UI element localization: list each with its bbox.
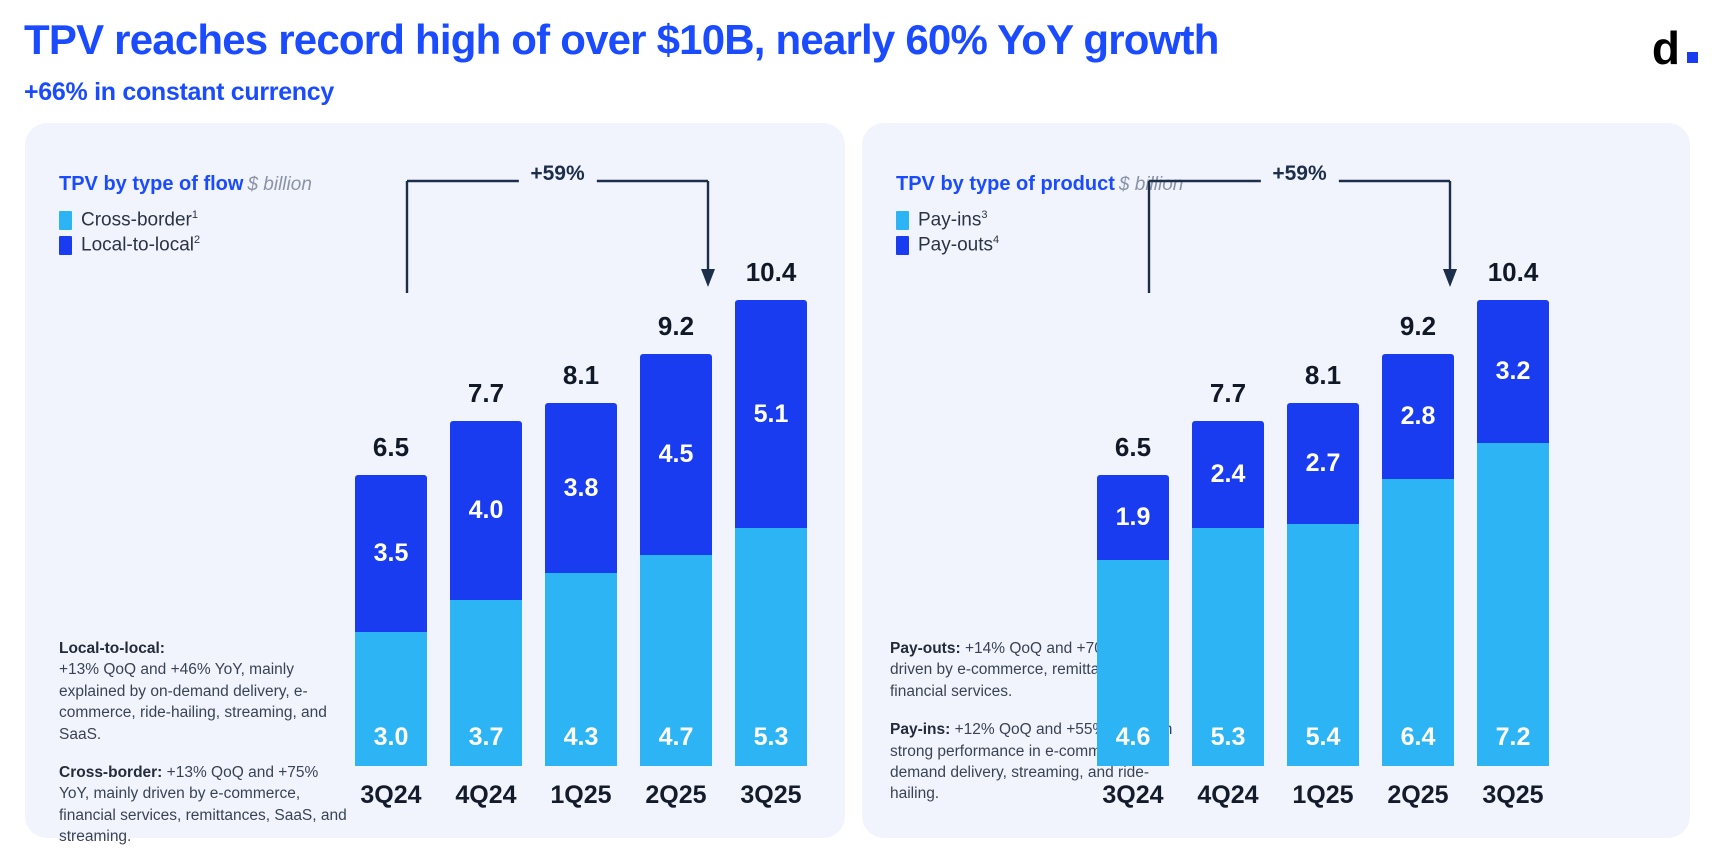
legend-swatch-icon — [896, 236, 909, 255]
bar-segment-bottom[interactable]: 6.4 — [1382, 479, 1454, 766]
bar-segment-value: 4.5 — [659, 440, 694, 469]
bar-segment-bottom[interactable]: 5.3 — [1192, 528, 1264, 766]
bar-total-label: 6.5 — [355, 432, 427, 463]
x-axis-tick: 4Q24 — [1192, 781, 1264, 810]
commentary-lead: Cross-border: — [59, 764, 162, 781]
panel-title-text: TPV by type of flow — [59, 173, 243, 195]
panel-title: TPV by type of product$ billion — [896, 173, 1183, 196]
bar-total-label: 10.4 — [735, 257, 807, 288]
bar-total-label: 7.7 — [1192, 378, 1264, 409]
bar-total-label: 9.2 — [1382, 311, 1454, 342]
growth-percentage-label: +59% — [518, 162, 596, 186]
bar-segment-bottom[interactable]: 4.7 — [640, 555, 712, 766]
bar-column[interactable]: 7.72.45.3 — [1192, 246, 1264, 766]
bar-column[interactable]: 10.43.27.2 — [1477, 246, 1549, 766]
chart-plot-area: 6.53.53.07.74.03.78.13.84.39.24.54.710.4… — [355, 246, 810, 766]
brand-logo: d — [1652, 30, 1698, 68]
bar-segment-value: 1.9 — [1116, 503, 1151, 532]
x-axis-tick: 2Q25 — [640, 781, 712, 810]
commentary-text: +13% QoQ and +46% YoY, mainly explained … — [59, 661, 327, 742]
bar-segment-value: 4.7 — [640, 723, 712, 752]
bar-segment-bottom[interactable]: 3.7 — [450, 600, 522, 766]
bar-segment-value: 7.2 — [1477, 723, 1549, 752]
bar-total-label: 6.5 — [1097, 432, 1169, 463]
bar-segment-value: 2.7 — [1306, 449, 1341, 478]
slide-header: TPV reaches record high of over $10B, ne… — [0, 0, 1716, 118]
bar-column[interactable]: 9.24.54.7 — [640, 246, 712, 766]
legend-item-label: Local-to-local2 — [81, 234, 200, 256]
stacked-bar-chart: 6.51.94.67.72.45.38.12.75.49.22.86.410.4… — [1097, 198, 1552, 838]
bar-segment-top[interactable]: 3.8 — [545, 403, 617, 573]
logo-dot-icon — [1687, 52, 1698, 63]
chart-legend: Cross-border1Local-to-local2 — [59, 208, 200, 258]
bar-segment-value: 5.3 — [735, 723, 807, 752]
bar-total-label: 10.4 — [1477, 257, 1549, 288]
panel-title-unit: $ billion — [247, 174, 311, 195]
bar-segment-value: 3.7 — [450, 723, 522, 752]
commentary-lead: Pay-ins: — [890, 721, 950, 738]
bar-total-label: 7.7 — [450, 378, 522, 409]
bar-segment-top[interactable]: 2.7 — [1287, 403, 1359, 524]
bar-segment-top[interactable]: 5.1 — [735, 300, 807, 529]
chart-legend: Pay-ins3Pay-outs4 — [896, 208, 999, 258]
panel-title: TPV by type of flow$ billion — [59, 173, 312, 196]
x-axis-tick: 2Q25 — [1382, 781, 1454, 810]
logo-letter-icon: d — [1652, 30, 1680, 68]
bar-column[interactable]: 10.45.15.3 — [735, 246, 807, 766]
page-title: TPV reaches record high of over $10B, ne… — [24, 16, 1219, 64]
commentary-paragraph-1: Local-to-local:+13% QoQ and +46% YoY, ma… — [59, 638, 349, 745]
bar-segment-value: 3.2 — [1496, 357, 1531, 386]
bar-segment-bottom[interactable]: 5.3 — [735, 528, 807, 766]
bar-segment-bottom[interactable]: 7.2 — [1477, 443, 1549, 766]
bar-segment-top[interactable]: 2.4 — [1192, 421, 1264, 529]
x-axis-tick: 3Q24 — [355, 781, 427, 810]
x-axis-tick: 4Q24 — [450, 781, 522, 810]
bar-segment-top[interactable]: 4.5 — [640, 354, 712, 556]
commentary-lead: Local-to-local: — [59, 640, 165, 657]
legend-item-label: Pay-outs4 — [918, 234, 999, 256]
legend-item-label: Pay-ins3 — [918, 209, 987, 231]
bar-segment-value: 2.8 — [1401, 402, 1436, 431]
bar-segment-bottom[interactable]: 5.4 — [1287, 524, 1359, 766]
bar-segment-bottom[interactable]: 4.3 — [545, 573, 617, 766]
legend-item-1[interactable]: Cross-border1 — [59, 208, 200, 233]
x-axis-tick: 3Q25 — [735, 781, 807, 810]
bar-segment-top[interactable]: 1.9 — [1097, 475, 1169, 560]
legend-item-label: Cross-border1 — [81, 209, 198, 231]
chart-panel-2: TPV by type of product$ billionPay-ins3P… — [862, 123, 1690, 838]
panel-commentary: Local-to-local:+13% QoQ and +46% YoY, ma… — [59, 638, 349, 852]
bar-column[interactable]: 6.51.94.6 — [1097, 246, 1169, 766]
bar-segment-value: 3.5 — [374, 539, 409, 568]
growth-percentage-label: +59% — [1260, 162, 1338, 186]
bar-segment-value: 4.3 — [545, 723, 617, 752]
x-axis-tick: 3Q24 — [1097, 781, 1169, 810]
legend-item-1[interactable]: Pay-ins3 — [896, 208, 999, 233]
legend-swatch-icon — [896, 211, 909, 230]
bar-segment-value: 3.8 — [564, 474, 599, 503]
bar-segment-value: 2.4 — [1211, 460, 1246, 489]
bar-total-label: 8.1 — [545, 360, 617, 391]
bar-segment-top[interactable]: 2.8 — [1382, 354, 1454, 480]
bar-column[interactable]: 7.74.03.7 — [450, 246, 522, 766]
bar-segment-value: 3.0 — [355, 723, 427, 752]
bar-column[interactable]: 9.22.86.4 — [1382, 246, 1454, 766]
bar-segment-value: 6.4 — [1382, 723, 1454, 752]
bar-segment-value: 4.6 — [1097, 723, 1169, 752]
commentary-lead: Pay-outs: — [890, 640, 961, 657]
bar-segment-top[interactable]: 3.2 — [1477, 300, 1549, 443]
bar-segment-bottom[interactable]: 4.6 — [1097, 560, 1169, 766]
bar-segment-value: 4.0 — [469, 496, 504, 525]
bar-segment-value: 5.4 — [1287, 723, 1359, 752]
bar-segment-value: 5.1 — [754, 400, 789, 429]
bar-segment-bottom[interactable]: 3.0 — [355, 632, 427, 766]
bar-total-label: 8.1 — [1287, 360, 1359, 391]
x-axis-tick: 3Q25 — [1477, 781, 1549, 810]
bar-segment-value: 5.3 — [1192, 723, 1264, 752]
legend-item-2[interactable]: Pay-outs4 — [896, 233, 999, 258]
x-axis: 3Q244Q241Q252Q253Q25 — [355, 781, 810, 810]
panel-title-text: TPV by type of product — [896, 173, 1115, 195]
legend-swatch-icon — [59, 236, 72, 255]
x-axis: 3Q244Q241Q252Q253Q25 — [1097, 781, 1552, 810]
x-axis-tick: 1Q25 — [545, 781, 617, 810]
chart-plot-area: 6.51.94.67.72.45.38.12.75.49.22.86.410.4… — [1097, 246, 1552, 766]
page-subtitle: +66% in constant currency — [24, 78, 334, 107]
bar-column[interactable]: 8.13.84.3 — [545, 246, 617, 766]
bar-column[interactable]: 8.12.75.4 — [1287, 246, 1359, 766]
chart-panel-1: TPV by type of flow$ billionCross-border… — [25, 123, 845, 838]
bar-segment-top[interactable]: 4.0 — [450, 421, 522, 600]
legend-item-2[interactable]: Local-to-local2 — [59, 233, 200, 258]
bar-segment-top[interactable]: 3.5 — [355, 475, 427, 632]
legend-swatch-icon — [59, 211, 72, 230]
bar-column[interactable]: 6.53.53.0 — [355, 246, 427, 766]
bar-total-label: 9.2 — [640, 311, 712, 342]
commentary-paragraph-2: Cross-border: +13% QoQ and +75% YoY, mai… — [59, 762, 349, 848]
stacked-bar-chart: 6.53.53.07.74.03.78.13.84.39.24.54.710.4… — [355, 198, 810, 838]
slide-root: TPV reaches record high of over $10B, ne… — [0, 0, 1716, 852]
x-axis-tick: 1Q25 — [1287, 781, 1359, 810]
